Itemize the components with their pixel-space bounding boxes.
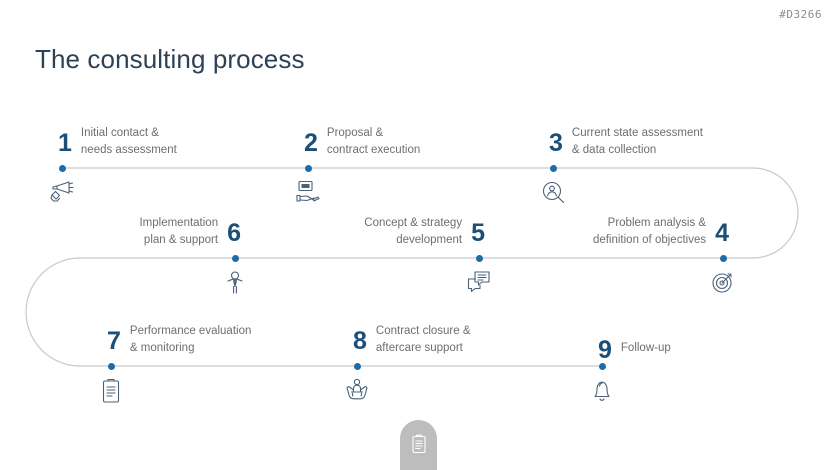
- step-marker-dot: [108, 363, 115, 370]
- step-label-line1: Implementation: [139, 217, 218, 229]
- slide-canvas: #D3266 The consulting process 1 Initial …: [0, 0, 836, 470]
- step-header: 3 Current state assessment & data collec…: [549, 124, 703, 158]
- step-marker-dot: [720, 255, 727, 262]
- step-label: Performance evaluation & monitoring: [130, 322, 251, 356]
- contract-signing-icon: [293, 180, 323, 208]
- step-number: 4: [715, 221, 729, 246]
- step-label-line1: Performance evaluation: [130, 325, 251, 337]
- step-label-line1: Proposal &: [327, 127, 383, 139]
- caring-hands-icon: [342, 378, 372, 406]
- step-label-line2: definition of objectives: [593, 232, 706, 248]
- step-label-line2: aftercare support: [376, 340, 471, 356]
- step-header: 2 Proposal & contract execution: [304, 124, 420, 158]
- step-number: 6: [227, 221, 241, 246]
- step-header: 1 Initial contact & needs assessment: [58, 124, 177, 158]
- step-label-line2: development: [364, 232, 462, 248]
- step-marker-dot: [550, 165, 557, 172]
- step-number: 7: [107, 329, 121, 354]
- step-label: Implementation plan & support: [139, 214, 218, 248]
- step-label-line1: Initial contact &: [81, 127, 159, 139]
- step-label-line2: & data collection: [572, 142, 703, 158]
- step-marker-dot: [354, 363, 361, 370]
- step-label-line1: Problem analysis &: [608, 217, 706, 229]
- target-icon: [708, 270, 738, 298]
- clipboard-icon: [96, 378, 126, 406]
- step-label-line1: Current state assessment: [572, 127, 703, 139]
- step-number: 2: [304, 131, 318, 156]
- document-id: #D3266: [779, 8, 822, 21]
- step-header: Concept & strategy development 5: [364, 214, 485, 248]
- speech-bubbles-icon: [464, 270, 494, 298]
- step-label: Proposal & contract execution: [327, 124, 420, 158]
- step-header: Implementation plan & support 6: [139, 214, 241, 248]
- step-label: Contract closure & aftercare support: [376, 322, 471, 356]
- bottom-document-badge[interactable]: [400, 420, 437, 470]
- step-number: 8: [353, 329, 367, 354]
- document-clipboard-icon: [411, 434, 427, 459]
- step-marker-dot: [59, 165, 66, 172]
- step-label: Concept & strategy development: [364, 214, 462, 248]
- step-header: 7 Performance evaluation & monitoring: [107, 322, 251, 356]
- step-label: Follow-up: [621, 331, 671, 356]
- step-header: 8 Contract closure & aftercare support: [353, 322, 471, 356]
- step-label-line1: Contract closure &: [376, 325, 471, 337]
- step-marker-dot: [476, 255, 483, 262]
- step-label-line2: needs assessment: [81, 142, 177, 158]
- step-label-line1: Follow-up: [621, 342, 671, 354]
- step-number: 5: [471, 221, 485, 246]
- step-marker-dot: [232, 255, 239, 262]
- step-number: 9: [598, 338, 612, 363]
- step-label-line1: Concept & strategy: [364, 217, 462, 229]
- step-header: 9 Follow-up: [598, 331, 671, 356]
- step-label-line2: & monitoring: [130, 340, 251, 356]
- bell-icon: [587, 378, 617, 406]
- step-number: 1: [58, 131, 72, 156]
- page-title: The consulting process: [35, 44, 305, 75]
- step-label: Initial contact & needs assessment: [81, 124, 177, 158]
- step-marker-dot: [305, 165, 312, 172]
- consultant-person-icon: [220, 270, 250, 298]
- step-label: Current state assessment & data collecti…: [572, 124, 703, 158]
- person-magnifier-icon: [538, 180, 568, 208]
- step-label: Problem analysis & definition of objecti…: [593, 214, 706, 248]
- step-number: 3: [549, 131, 563, 156]
- step-label-line2: plan & support: [139, 232, 218, 248]
- step-header: Problem analysis & definition of objecti…: [593, 214, 729, 248]
- step-label-line2: contract execution: [327, 142, 420, 158]
- megaphone-icon: [47, 180, 77, 208]
